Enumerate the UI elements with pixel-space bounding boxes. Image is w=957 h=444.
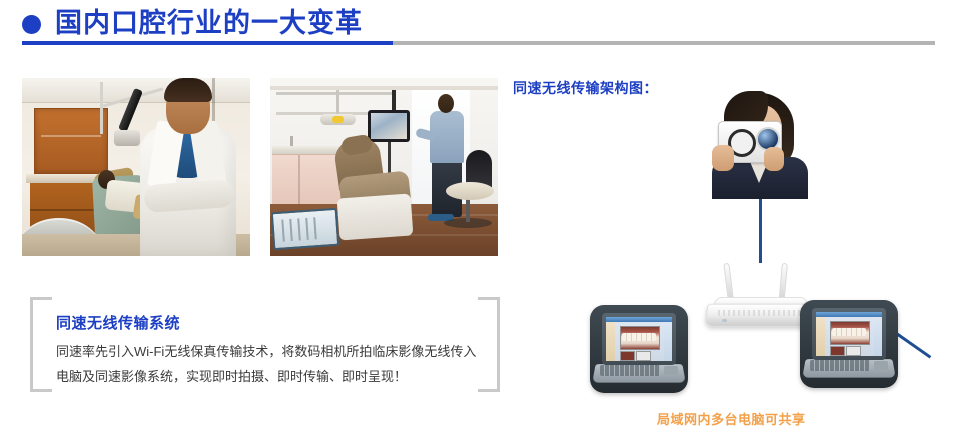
camera-node-hand-right (764, 147, 784, 171)
page-title: 国内口腔行业的一大变革 (55, 6, 363, 40)
photo-dental-operatory (270, 78, 498, 256)
network-diagram: 同速无线传输架构图： (500, 60, 957, 444)
laptop-left-keyboard (600, 365, 660, 376)
photo1-upper-cabinet (34, 108, 108, 174)
laptop-right-lid (812, 308, 886, 360)
callout-line-1: 同速率先引入Wi-Fi无线保真传输技术，将数码相机所拍临床影像无线传入 (56, 339, 476, 364)
diagram-label: 同速无线传输架构图： (513, 78, 658, 98)
photo2-chair-base (337, 193, 414, 240)
laptop-left-titlebar (606, 317, 672, 322)
node-laptop-right (800, 300, 898, 388)
laptop-right-toolbar (874, 317, 882, 356)
laptop-right-trackpad (874, 361, 888, 370)
photo2-man-head (438, 94, 454, 113)
photo2-lamp-pole (336, 90, 339, 116)
photo1-operating-lamp (114, 130, 140, 146)
callout-title: 同速无线传输系统 (56, 312, 180, 333)
callout-corner-top-right (478, 297, 500, 300)
laptop-right-screen (816, 312, 882, 356)
bullet-icon (22, 15, 41, 34)
callout-body: 同速率先引入Wi-Fi无线保真传输技术，将数码相机所拍临床影像无线传入 电脑及同… (56, 339, 476, 389)
photo1-dentist-hair (164, 78, 212, 102)
laptop-right-titlebar (816, 312, 882, 317)
photo2-monitor-screen (371, 113, 407, 139)
laptop-left-thumbnail-2 (636, 351, 651, 361)
laptop-left-toolbar (664, 322, 672, 361)
laptop-left-lid (602, 313, 676, 365)
callout-line-2: 电脑及同速影像系统，实现即时拍摄、即时传输、即时呈现！ (56, 364, 476, 389)
photo2-instrument-tray (271, 208, 339, 251)
photo2-monitor (368, 110, 410, 142)
laptop-left-screen (606, 317, 672, 361)
photo2-monitor-stem (388, 142, 391, 176)
node-camera-photographer (690, 89, 830, 199)
callout-corner-bottom-left (30, 389, 52, 392)
photo2-ceiling-bar (270, 86, 498, 90)
photo2-monitor-arm (392, 90, 396, 112)
laptop-right-thumbnail-2 (846, 346, 861, 356)
diagram-footer-caption: 局域网内多台电脑可共享 (657, 409, 806, 428)
callout-box: 同速无线传输系统 同速率先引入Wi-Fi无线保真传输技术，将数码相机所拍临床影像… (30, 297, 500, 392)
callout-border-left (30, 297, 33, 392)
header-rule-accent (22, 41, 393, 45)
laptop-left-sidebar (606, 322, 615, 361)
photo2-lamp-bulb (332, 116, 344, 123)
callout-corner-top-left (30, 297, 52, 300)
photo-dentist-with-patient (22, 78, 250, 256)
link-camera-to-router (759, 199, 762, 263)
callout-corner-bottom-right (478, 389, 500, 392)
photo2-ceiling-pipe-1 (276, 92, 392, 95)
laptop-left-teeth (622, 333, 656, 341)
node-laptop-left (590, 305, 688, 393)
laptop-left-thumbnail-1 (620, 351, 635, 361)
router-led-icon (722, 319, 727, 322)
camera-node-hand-left (712, 145, 734, 171)
laptop-right-keyboard (810, 360, 870, 371)
laptop-right-thumbnail-1 (830, 346, 845, 356)
laptop-right-sidebar (816, 317, 825, 356)
router-vent (718, 310, 802, 316)
photo1-lamp-arm-vertical (100, 82, 103, 134)
laptop-right-teeth (832, 328, 866, 336)
laptop-left-trackpad (664, 366, 678, 375)
photo2-stool-seat (446, 182, 494, 200)
page-header: 国内口腔行业的一大变革 (0, 0, 957, 52)
